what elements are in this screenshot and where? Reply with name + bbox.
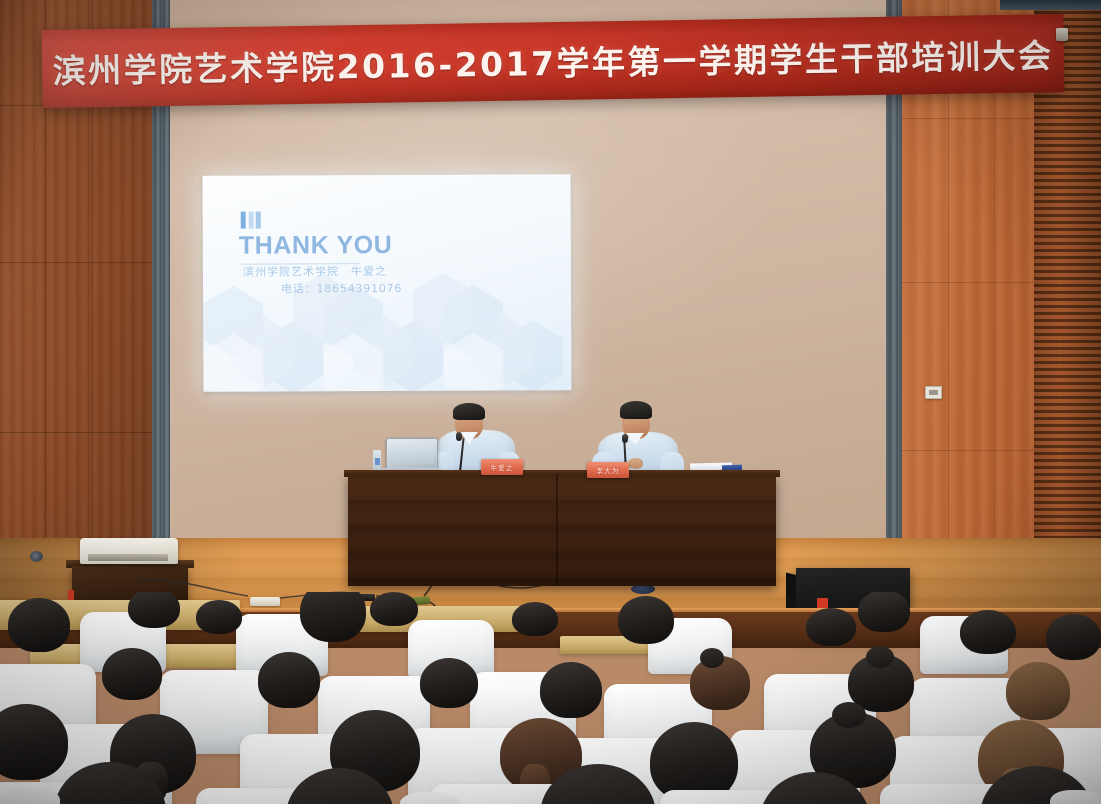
nameplate-right-text: 李大为 (596, 465, 619, 475)
audience-head (370, 592, 418, 626)
head-table-seam (556, 474, 558, 586)
audience-head (1046, 614, 1101, 660)
slide-subtitle: 滨州学院艺术学院 牛爱之 (243, 263, 387, 280)
audience-shoulders (400, 792, 460, 804)
audience-head (540, 662, 602, 718)
audience-head (258, 652, 320, 708)
audience-head (618, 596, 674, 644)
nameplate-left-text: 牛爱之 (490, 462, 513, 472)
audience-head (196, 600, 242, 634)
audience-area (0, 592, 1101, 804)
banner-text: 滨州学院艺术学院2016-2017学年第一学期学生干部培训大会 (42, 29, 1065, 93)
audience-head (806, 608, 856, 646)
head-table (348, 474, 776, 586)
nameplate-right: 李大为 (587, 462, 629, 478)
audience-head (128, 592, 180, 628)
microphone-head-left (456, 432, 462, 441)
event-banner: 滨州学院艺术学院2016-2017学年第一学期学生干部培训大会 (41, 14, 1064, 108)
audience-head (512, 602, 558, 636)
audience-shoulders (1050, 790, 1101, 804)
audience-head (8, 598, 70, 652)
slide-logo-mark (241, 212, 263, 229)
laptop (386, 438, 438, 471)
projection-screen: THANK YOU 滨州学院艺术学院 牛爱之 电话：18654391076 (203, 174, 572, 392)
hair-bun (832, 702, 866, 728)
audience-head (960, 610, 1016, 654)
ceiling-trim (1000, 0, 1101, 10)
slide-phone: 电话：18654391076 (281, 280, 402, 297)
audience-head (300, 592, 366, 642)
audience-head (1006, 662, 1070, 720)
audience-shoulders (0, 788, 60, 804)
audience-head (858, 592, 910, 632)
auditorium-photo: 滨州学院艺术学院2016-2017学年第一学期学生干部培训大会 (0, 0, 1101, 804)
banner-hook (1056, 28, 1068, 41)
microphone-head-right (622, 434, 628, 443)
water-bottle (373, 450, 381, 472)
nameplate-left: 牛爱之 (481, 459, 523, 475)
hair-bun (866, 646, 894, 668)
slide-title: THANK YOU (239, 231, 393, 261)
hair-bun (700, 648, 724, 668)
wall-outlet (925, 386, 942, 399)
audience-head (102, 648, 162, 700)
audience-head (420, 658, 478, 708)
